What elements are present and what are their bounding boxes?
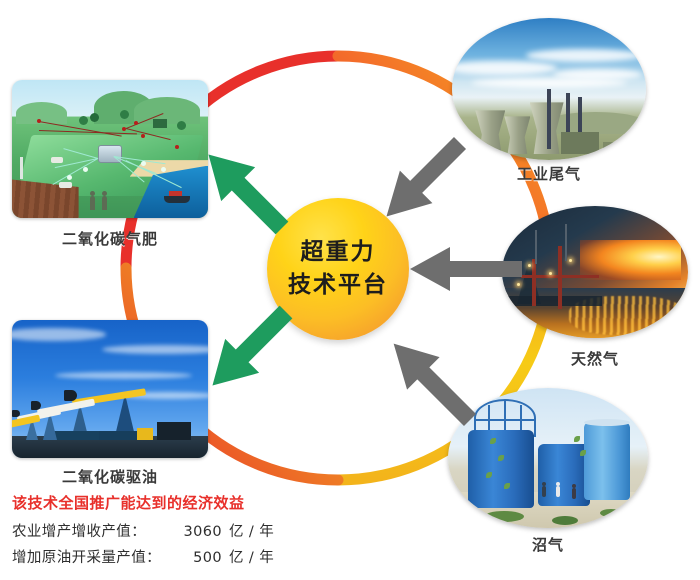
gray-arrow-from-natural-gas	[410, 247, 522, 291]
economic-row-value: 3060	[170, 524, 222, 540]
economic-benefit-title: 该技术全国推广能达到的经济效益	[12, 492, 432, 513]
gray-arrow-from-biogas	[377, 327, 486, 436]
economic-row-label: 增加原油开采量产值：	[12, 546, 170, 567]
economic-row-unit: 亿 / 年	[222, 520, 274, 541]
economic-benefit-block: 该技术全国推广能达到的经济效益 农业增产增收产值： 3060 亿 / 年 增加原…	[12, 492, 432, 572]
caption-industrial-flue-gas: 工业尾气	[452, 163, 646, 184]
caption-co2-gas-fertilizer: 二氧化碳气肥	[12, 228, 208, 249]
green-arrow-to-eor	[195, 295, 302, 402]
caption-co2-eor: 二氧化碳驱油	[12, 466, 208, 487]
economic-row-unit: 亿 / 年	[222, 546, 274, 567]
economic-row: 增加原油开采量产值： 500 亿 / 年	[12, 546, 432, 567]
caption-biogas: 沼气	[448, 534, 648, 555]
diagram-canvas: 二氧化碳气肥	[0, 0, 700, 580]
caption-natural-gas: 天然气	[502, 348, 688, 369]
economic-row-value: 500	[170, 550, 222, 566]
economic-row: 农业增产增收产值： 3060 亿 / 年	[12, 520, 432, 541]
economic-row-label: 农业增产增收产值：	[12, 520, 170, 541]
